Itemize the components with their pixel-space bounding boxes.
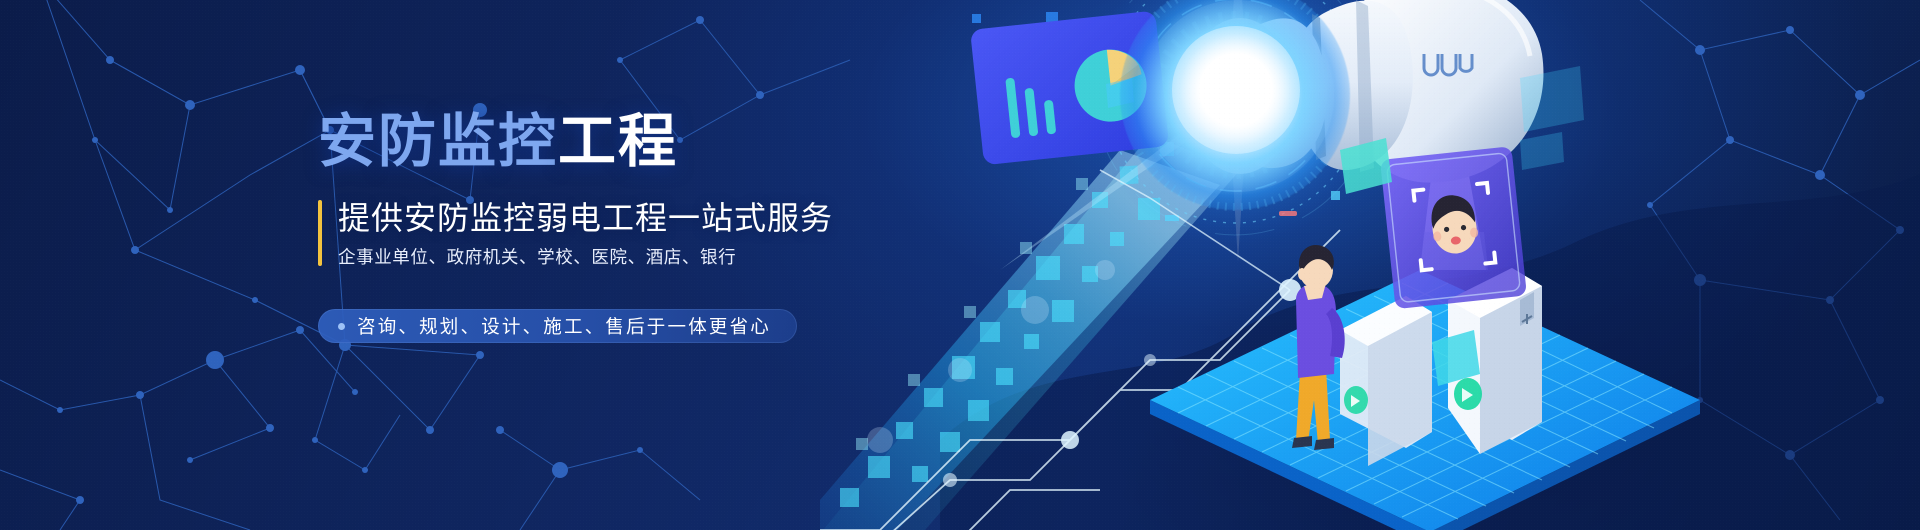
subtitle-note: 企事业单位、政府机关、学校、医院、酒店、银行	[338, 246, 978, 269]
gate-reader-secondary	[1344, 386, 1368, 414]
camera-hud-panel	[1520, 66, 1584, 170]
bullet-dot-icon	[338, 323, 345, 330]
illustration	[820, 0, 1920, 530]
hero-banner: 安防监控工程 提供安防监控弱电工程一站式服务 企事业单位、政府机关、学校、医院、…	[0, 0, 1920, 530]
face-recognition-card	[1380, 146, 1527, 309]
lens-glow-core-inner	[1172, 26, 1300, 154]
subtitle-block: 提供安防监控弱电工程一站式服务 企事业单位、政府机关、学校、医院、酒店、银行	[318, 198, 978, 269]
page-title-highlight: 工程	[558, 109, 678, 174]
subtitle: 提供安防监控弱电工程一站式服务	[338, 198, 978, 239]
page-title: 安防监控工程	[318, 112, 978, 172]
page-title-primary: 安防监控	[318, 109, 558, 174]
service-badge-label: 咨询、规划、设计、施工、售后于一体更省心	[357, 313, 771, 339]
service-badge[interactable]: 咨询、规划、设计、施工、售后于一体更省心	[318, 309, 797, 343]
gate-reader	[1454, 378, 1482, 410]
headline-block: 安防监控工程 提供安防监控弱电工程一站式服务 企事业单位、政府机关、学校、医院、…	[318, 112, 978, 269]
